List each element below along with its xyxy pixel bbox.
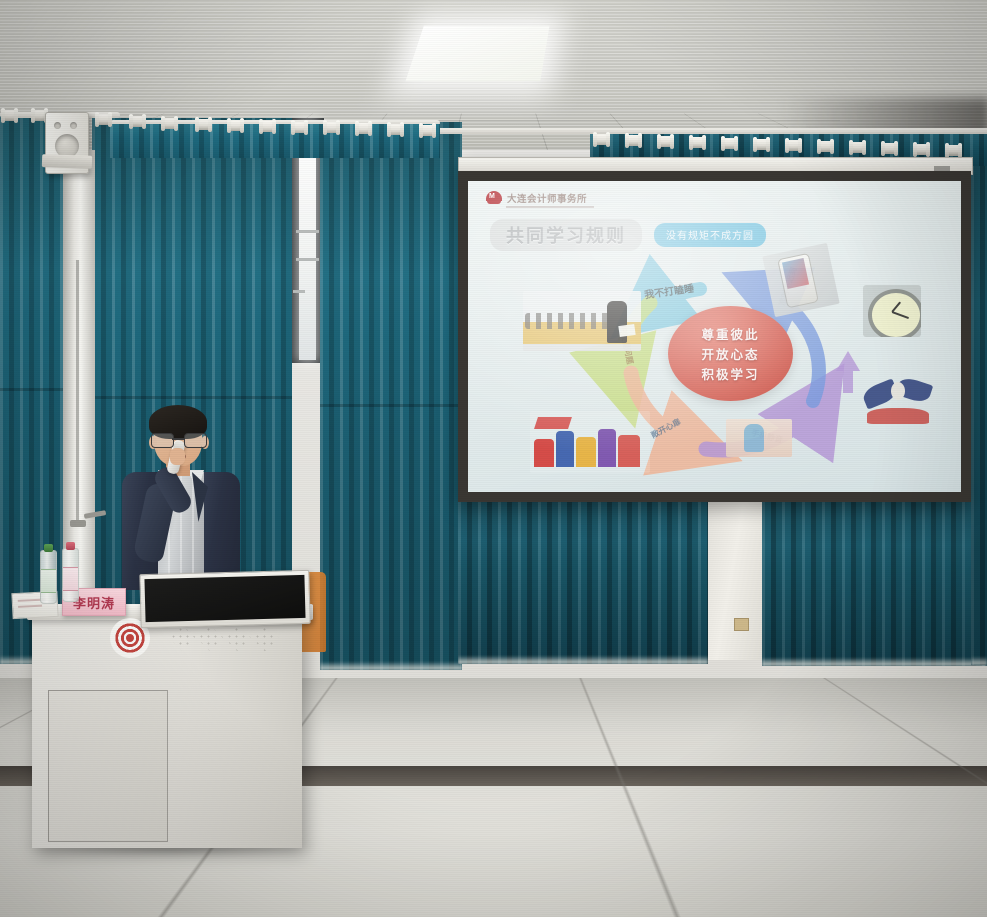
slide-subtitle-badge: 没有规矩不成方圆	[654, 223, 766, 247]
water-bottle[interactable]	[62, 548, 79, 602]
firm-logo-icon: M	[486, 191, 502, 205]
slide-title-row: 共同学习规则 没有规矩不成方圆	[490, 219, 766, 251]
cycle-diagram: 我不打瞌睡 积极提问题 敞开心扉 手机静音 准时不迟到 尊重彼此 开放心态 积极…	[468, 251, 961, 492]
bird-illustration	[863, 376, 933, 434]
podium-cabinet-door[interactable]	[48, 690, 168, 842]
ceiling-light	[406, 26, 550, 81]
core-line: 积极学习	[701, 364, 759, 383]
window-mullion	[296, 258, 319, 261]
water-bottle[interactable]	[40, 550, 57, 604]
logo-underline	[506, 206, 594, 208]
hand	[170, 448, 185, 465]
group-illustration	[530, 411, 650, 473]
curtain-panel-under-screen	[458, 492, 708, 664]
photo-scene: M 大连会计师事务所 共同学习规则 没有规矩不成方圆	[0, 0, 987, 917]
slide-subtitle-text: 没有规矩不成方圆	[666, 231, 754, 242]
wall-speaker-icon	[45, 112, 89, 174]
projector-screen: M 大连会计师事务所 共同学习规则 没有规矩不成方圆	[458, 157, 971, 502]
presenter-name: 李明涛	[73, 593, 115, 612]
pillar-cable	[76, 260, 79, 520]
window-mullion	[296, 230, 319, 233]
window-handle	[293, 290, 305, 293]
curtain-panel	[320, 122, 462, 670]
child-photo	[726, 419, 792, 457]
slide-title-pill: 共同学习规则	[490, 219, 642, 251]
podium-monitor[interactable]	[139, 570, 310, 628]
slide-logo: M 大连会计师事务所	[486, 191, 587, 205]
slide-title: 共同学习规则	[506, 226, 626, 246]
wall-gap	[705, 495, 765, 660]
diagram-core: 尊重彼此 开放心态 积极学习	[668, 306, 793, 401]
monitor-screen	[144, 575, 305, 622]
slide-surface: M 大连会计师事务所 共同学习规则 没有规矩不成方圆	[468, 181, 961, 492]
core-line: 尊重彼此	[701, 324, 759, 343]
slide-logo-text: 大连会计师事务所	[507, 191, 587, 205]
curtain-panel-under-screen	[762, 498, 987, 666]
glasses-icon	[151, 433, 205, 446]
wall-outlet	[734, 618, 749, 631]
classroom-illustration	[523, 291, 641, 351]
wall-clock-photo	[863, 285, 921, 337]
curtain-panel-right	[971, 160, 987, 665]
core-line: 开放心态	[701, 344, 759, 363]
